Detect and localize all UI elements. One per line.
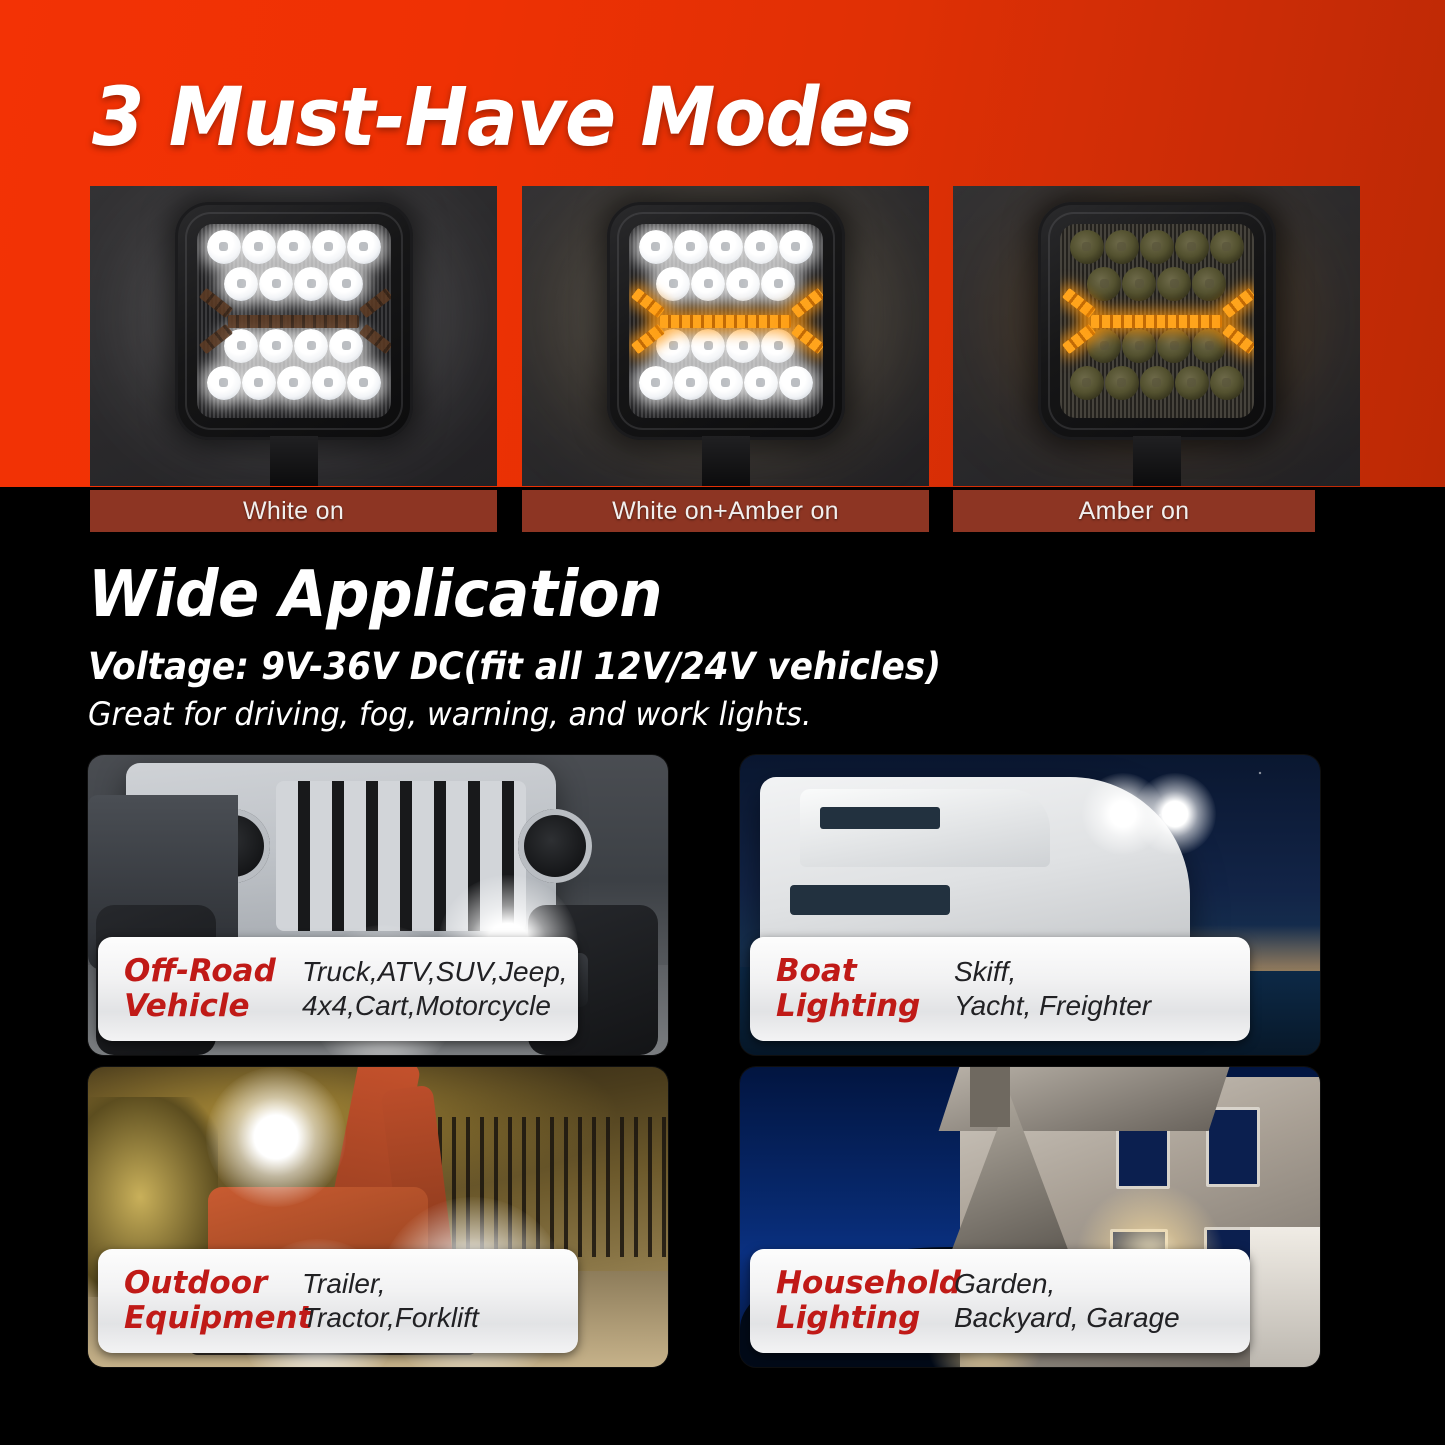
caption-items-line1: Truck,ATV,SUV,Jeep,: [302, 955, 578, 989]
led: [744, 230, 778, 264]
application-card-household-lighting: Household Lighting Garden, Backyard, Gar…: [740, 1067, 1320, 1367]
caption-items-line1: Garden,: [954, 1267, 1250, 1301]
amber-arrow-strip-on: [631, 295, 821, 347]
led: [726, 329, 760, 363]
led: [347, 366, 381, 400]
page-title: 3 Must-Have Modes: [92, 78, 929, 159]
led: [1087, 267, 1121, 301]
mode-tile-white-on: [90, 186, 497, 486]
caption-items-line2: Yacht, Freighter: [954, 989, 1250, 1023]
arrow-head-left-icon: [199, 295, 229, 347]
wide-application-subtitle: Great for driving, fog, warning, and wor…: [88, 695, 811, 733]
led: [1140, 230, 1174, 264]
led: [779, 230, 813, 264]
led: [744, 366, 778, 400]
mode-label-white-amber-on: White on+Amber on: [522, 490, 929, 532]
caption-title-line1: Off-Road: [124, 954, 302, 989]
led: [294, 267, 328, 301]
caption-items-line2: Tractor,Forklift: [302, 1301, 578, 1335]
arrow-head-right-icon: [791, 295, 821, 347]
application-card-outdoor-equipment: Outdoor Equipment Trailer, Tractor,Forkl…: [88, 1067, 668, 1367]
caption-title-line2: Vehicle: [124, 989, 302, 1024]
led: [761, 267, 795, 301]
lamp-mounting-bracket: [1133, 436, 1181, 486]
led: [709, 230, 743, 264]
caption-panel: Outdoor Equipment Trailer, Tractor,Forkl…: [98, 1249, 578, 1353]
led: [656, 329, 690, 363]
led: [329, 267, 363, 301]
lamp-lens: [197, 224, 391, 418]
mode-label-amber-on: Amber on: [953, 490, 1315, 532]
infographic-page: 3 Must-Have Modes: [0, 0, 1445, 1445]
led: [639, 366, 673, 400]
led: [674, 230, 708, 264]
caption-title: Boat Lighting: [750, 954, 954, 1023]
caption-title-line1: Household: [776, 1266, 954, 1301]
led: [1070, 230, 1104, 264]
application-card-boat-lighting: Boat Lighting Skiff, Yacht, Freighter: [740, 755, 1320, 1055]
led: [242, 230, 276, 264]
caption-title: Outdoor Equipment: [98, 1266, 302, 1335]
caption-items-line2: 4x4,Cart,Motorcycle: [302, 989, 578, 1023]
amber-arrow-strip-off: [199, 295, 389, 347]
led: [242, 366, 276, 400]
led: [1157, 329, 1191, 363]
led: [1070, 366, 1104, 400]
mode-tiles-row: [0, 186, 1445, 531]
caption-title: Household Lighting: [750, 1266, 954, 1335]
led: [294, 329, 328, 363]
caption-panel: Household Lighting Garden, Backyard, Gar…: [750, 1249, 1250, 1353]
arrow-bar: [660, 315, 791, 328]
led: [691, 267, 725, 301]
led: [224, 267, 258, 301]
led: [312, 366, 346, 400]
arrow-head-left-icon: [631, 295, 661, 347]
led: [1175, 230, 1209, 264]
caption-title-line1: Outdoor: [124, 1266, 302, 1301]
mode-tile-amber-on: [953, 186, 1360, 486]
arrow-head-right-icon: [359, 295, 389, 347]
voltage-spec-text: Voltage: 9V-36V DC(fit all 12V/24V vehic…: [88, 645, 941, 688]
led: [761, 329, 795, 363]
led: [1122, 267, 1156, 301]
led: [639, 230, 673, 264]
caption-title-line2: Lighting: [776, 989, 954, 1024]
caption-items-line2: Backyard, Garage: [954, 1301, 1250, 1335]
caption-items: Skiff, Yacht, Freighter: [954, 955, 1250, 1023]
caption-items: Garden, Backyard, Garage: [954, 1267, 1250, 1335]
led: [277, 366, 311, 400]
caption-items: Truck,ATV,SUV,Jeep, 4x4,Cart,Motorcycle: [302, 955, 578, 1023]
led: [709, 366, 743, 400]
led: [779, 366, 813, 400]
mode-tile-white-amber-on: [522, 186, 929, 486]
led: [656, 267, 690, 301]
arrow-bar: [1091, 315, 1222, 328]
led: [1192, 329, 1226, 363]
led: [1122, 329, 1156, 363]
led-work-light: [607, 202, 845, 440]
led: [312, 230, 346, 264]
led: [347, 230, 381, 264]
caption-items: Trailer, Tractor,Forklift: [302, 1267, 578, 1335]
led: [726, 267, 760, 301]
caption-title-line2: Equipment: [124, 1301, 302, 1336]
caption-panel: Off-Road Vehicle Truck,ATV,SUV,Jeep, 4x4…: [98, 937, 578, 1041]
caption-title-line1: Boat: [776, 954, 954, 989]
led: [259, 329, 293, 363]
lamp-mounting-bracket: [270, 436, 318, 486]
led-work-light: [1038, 202, 1276, 440]
led: [1140, 366, 1174, 400]
led: [1105, 366, 1139, 400]
led-work-light: [175, 202, 413, 440]
caption-title: Off-Road Vehicle: [98, 954, 302, 1023]
caption-items-line1: Skiff,: [954, 955, 1250, 989]
caption-title-line2: Lighting: [776, 1301, 954, 1336]
led: [1210, 366, 1244, 400]
arrow-bar: [228, 315, 359, 328]
caption-items-line1: Trailer,: [302, 1267, 578, 1301]
amber-arrow-strip-on: [1062, 295, 1252, 347]
led: [277, 230, 311, 264]
arrow-head-left-icon: [1062, 295, 1092, 347]
led: [224, 329, 258, 363]
caption-panel: Boat Lighting Skiff, Yacht, Freighter: [750, 937, 1250, 1041]
lamp-lens: [629, 224, 823, 418]
led: [207, 230, 241, 264]
lamp-lens: [1060, 224, 1254, 418]
led: [1192, 267, 1226, 301]
wide-application-title: Wide Application: [88, 558, 662, 632]
lamp-mounting-bracket: [702, 436, 750, 486]
led: [1157, 267, 1191, 301]
led: [1087, 329, 1121, 363]
led: [1105, 230, 1139, 264]
led: [674, 366, 708, 400]
application-cards-grid: Off-Road Vehicle Truck,ATV,SUV,Jeep, 4x4…: [0, 755, 1445, 1395]
led: [1210, 230, 1244, 264]
led: [329, 329, 363, 363]
led: [259, 267, 293, 301]
application-card-off-road-vehicle: Off-Road Vehicle Truck,ATV,SUV,Jeep, 4x4…: [88, 755, 668, 1055]
led: [691, 329, 725, 363]
mode-label-white-on: White on: [90, 490, 497, 532]
led: [1175, 366, 1209, 400]
arrow-head-right-icon: [1222, 295, 1252, 347]
led: [207, 366, 241, 400]
